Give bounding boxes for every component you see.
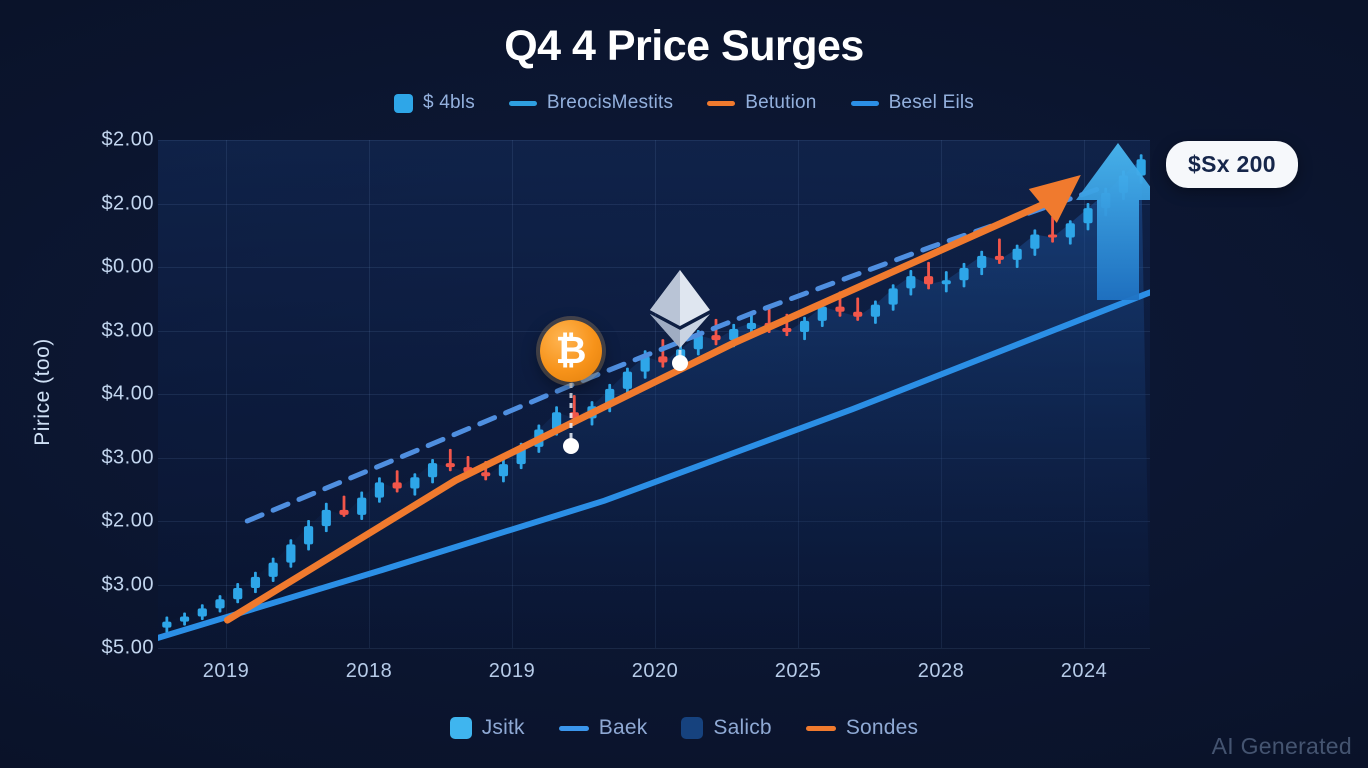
price-badge: $Sx 200 [1166, 141, 1298, 188]
candle-body [180, 617, 189, 622]
candle-body [924, 276, 933, 284]
candle-body [357, 498, 366, 515]
candle-body [800, 321, 809, 332]
legend-swatch-icon [681, 717, 703, 739]
bitcoin-coin-icon: ₿ [540, 320, 602, 382]
candle-body [1083, 208, 1092, 223]
candle-body [747, 323, 756, 329]
legend-bottom-area[interactable]: Salicb [681, 716, 771, 740]
candle-wick [856, 297, 859, 320]
candle-body [1048, 234, 1057, 237]
legend-label: Salicb [713, 716, 771, 740]
candle-body [251, 577, 260, 588]
candle-body [818, 307, 827, 321]
candle-body [410, 477, 419, 488]
candle-body [269, 563, 278, 577]
candle-body [623, 372, 632, 389]
candle-wick [927, 262, 930, 289]
candle-body [375, 482, 384, 497]
legend-bottom: JsitkBaekSalicbSondes [0, 716, 1368, 740]
candle-body [428, 463, 437, 477]
legend-line-icon [806, 726, 836, 731]
candle-body [995, 256, 1004, 260]
candle-body [782, 328, 791, 332]
candle-body [322, 510, 331, 526]
candle-body [977, 256, 986, 268]
legend-line-icon [559, 726, 589, 731]
candle-body [711, 335, 720, 340]
candle-body [162, 622, 171, 628]
candle-body [286, 544, 295, 562]
candle-wick [396, 470, 399, 492]
legend-bottom-candles[interactable]: Jsitk [450, 716, 525, 740]
candle-body [906, 276, 915, 288]
trend-arrowhead-icon [1029, 175, 1081, 223]
candle-wick [998, 239, 1001, 264]
candle-body [1066, 223, 1075, 237]
marker-dot [563, 438, 579, 454]
legend-label: Baek [599, 716, 648, 740]
candle-body [499, 464, 508, 476]
candle-wick [449, 449, 452, 471]
legend-label: Sondes [846, 716, 918, 740]
candle-body [1013, 249, 1022, 260]
legend-label: Jsitk [482, 716, 525, 740]
candle-wick [715, 319, 718, 345]
candle-body [889, 288, 898, 304]
watermark: AI Generated [1212, 733, 1352, 760]
candle-body [339, 510, 348, 515]
candle-body [853, 312, 862, 317]
candle-body [198, 608, 207, 616]
candle-body [658, 356, 667, 362]
candle-body [835, 307, 844, 312]
candle-body [215, 599, 224, 608]
chart-graphics [0, 0, 1368, 768]
candle-body [871, 305, 880, 317]
marker-dot [672, 355, 688, 371]
candle-body [942, 280, 951, 284]
legend-bottom-trend[interactable]: Sondes [806, 716, 918, 740]
legend-bottom-line[interactable]: Baek [559, 716, 648, 740]
candle-body [393, 482, 402, 488]
ethereum-diamond-icon [648, 270, 712, 348]
legend-swatch-icon [450, 717, 472, 739]
candle-body [446, 463, 455, 467]
candle-body [304, 526, 313, 544]
chart-canvas: Q4 4 Price Surges $ 4blsBreocisMestitsBe… [0, 0, 1368, 768]
candle-body [233, 588, 242, 599]
candle-body [481, 472, 490, 476]
candle-wick [1051, 216, 1054, 242]
candle-body [1030, 234, 1039, 248]
candle-body [959, 268, 968, 280]
